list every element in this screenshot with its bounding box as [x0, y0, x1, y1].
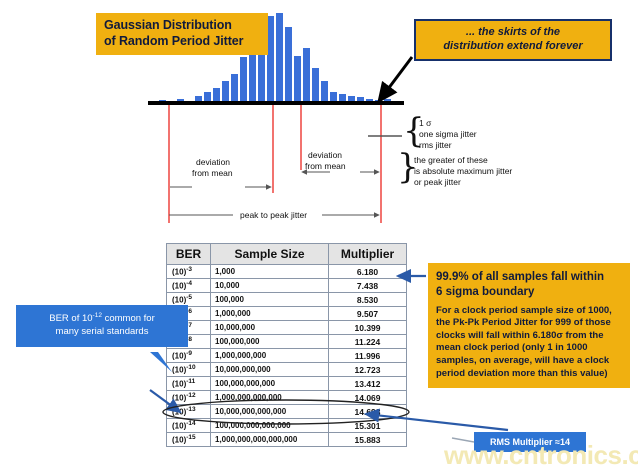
- histogram-bar: [303, 48, 310, 103]
- ber-callout-line-1-post: common for: [102, 313, 155, 324]
- sigma-line-left-outer: [168, 105, 170, 223]
- cell-multiplier: 14.069: [329, 391, 407, 405]
- deviation-right-line-2: from mean: [305, 161, 346, 172]
- cell-multiplier: 7.438: [329, 279, 407, 293]
- chart-title-box: Gaussian Distribution of Random Period J…: [96, 13, 268, 55]
- ber-callout-line-1: BER of 10-12 common for: [22, 312, 182, 326]
- cell-multiplier: 11.996: [329, 349, 407, 363]
- cell-sample-size: 10,000,000,000,000: [211, 405, 329, 419]
- column-header-sample-size: Sample Size: [211, 244, 329, 265]
- peak-to-peak-label: peak to peak jitter: [240, 210, 307, 221]
- cell-sample-size: 1,000: [211, 265, 329, 279]
- jitter-annotation-layer: { 1 σ one sigma jitter rms jitter } the …: [0, 100, 638, 235]
- sigma-line-left-inner: [272, 105, 274, 193]
- histogram-bar: [231, 74, 238, 103]
- cell-multiplier: 9.507: [329, 307, 407, 321]
- ber-common-callout: BER of 10-12 common for many serial stan…: [16, 305, 188, 347]
- table-header-row: BER Sample Size Multiplier: [167, 244, 407, 265]
- cell-ber: (10)-11: [167, 377, 211, 391]
- deviation-right-line-1: deviation: [308, 150, 342, 161]
- ber-callout-line-1-pre: BER of 10: [49, 313, 92, 324]
- info-box-body-line-3: clocks will fall within 6.180σ from the: [436, 330, 623, 343]
- cell-ber: (10)-10: [167, 363, 211, 377]
- histogram-bar: [249, 55, 256, 103]
- sigma-label-1-line-1: 1 σ: [419, 118, 431, 129]
- skirt-callout-box: ... the skirts of the distribution exten…: [414, 19, 612, 61]
- cell-ber: (10)-12: [167, 391, 211, 405]
- sigma-line-right-outer: [380, 105, 382, 223]
- cell-sample-size: 100,000,000,000,000: [211, 419, 329, 433]
- info-box-body-line-1: For a clock period sample size of 1000,: [436, 305, 623, 318]
- sigma-label-2-line-3: or peak jitter: [414, 177, 461, 188]
- table-row[interactable]: (10)-8100,000,00011.224: [167, 335, 407, 349]
- table-row[interactable]: (10)-1010,000,000,00012.723: [167, 363, 407, 377]
- cell-sample-size: 100,000,000: [211, 335, 329, 349]
- site-watermark: www.cntronics.com: [444, 440, 638, 471]
- six-sigma-info-box: 99.9% of all samples fall within 6 sigma…: [428, 263, 630, 388]
- table-row[interactable]: (10)-11100,000,000,00013.412: [167, 377, 407, 391]
- info-box-body-line-2: the Pk-Pk Period Jitter for 999 of those: [436, 317, 623, 330]
- skirt-callout-line-2: distribution extend forever: [420, 39, 606, 53]
- histogram-bar: [276, 13, 283, 103]
- table-row[interactable]: (10)-151,000,000,000,000,00015.883: [167, 433, 407, 447]
- cell-multiplier: 10.399: [329, 321, 407, 335]
- table-row[interactable]: (10)-410,0007.438: [167, 279, 407, 293]
- table-row[interactable]: (10)-61,000,0009.507: [167, 307, 407, 321]
- info-box-body: For a clock period sample size of 1000, …: [436, 305, 623, 380]
- cell-multiplier: 11.224: [329, 335, 407, 349]
- cell-sample-size: 1,000,000,000: [211, 349, 329, 363]
- column-header-multiplier: Multiplier: [329, 244, 407, 265]
- ber-callout-line-2: many serial standards: [22, 326, 182, 339]
- cell-sample-size: 10,000: [211, 279, 329, 293]
- cell-ber: (10)-13: [167, 405, 211, 419]
- chart-title-line-2: of Random Period Jitter: [104, 34, 262, 50]
- cell-ber: (10)-15: [167, 433, 211, 447]
- histogram-bar: [312, 68, 319, 103]
- deviation-left-line-1: deviation: [196, 157, 230, 168]
- info-box-body-line-5: samples, on average, will have a clock: [436, 355, 623, 368]
- skirt-callout-line-1: ... the skirts of the: [420, 25, 606, 39]
- deviation-left-line-2: from mean: [192, 168, 233, 179]
- cell-sample-size: 100,000,000,000: [211, 377, 329, 391]
- info-box-heading: 99.9% of all samples fall within 6 sigma…: [436, 270, 623, 300]
- sigma-line-right-inner: [300, 105, 302, 170]
- sigma-label-1-line-2: one sigma jitter: [419, 129, 477, 140]
- ber-callout-exponent: -12: [93, 312, 102, 319]
- cell-multiplier: 13.412: [329, 377, 407, 391]
- histogram-bar: [294, 56, 301, 104]
- cell-multiplier: 15.883: [329, 433, 407, 447]
- table-row[interactable]: (10)-5100,0008.530: [167, 293, 407, 307]
- histogram-bar: [285, 27, 292, 103]
- cell-multiplier: 15.301: [329, 419, 407, 433]
- cell-multiplier: 6.180: [329, 265, 407, 279]
- info-box-body-line-4: mean clock period (only 1 in 1000: [436, 342, 623, 355]
- info-box-heading-line-1: 99.9% of all samples fall within: [436, 270, 623, 285]
- histogram-bar: [240, 57, 247, 103]
- cell-ber: (10)-9: [167, 349, 211, 363]
- info-box-body-line-6: period deviation more than this value): [436, 368, 623, 381]
- sigma-label-2-line-2: is absolute maximum jitter: [414, 166, 512, 177]
- table-row[interactable]: (10)-121,000,000,000,00014.069: [167, 391, 407, 405]
- table-row[interactable]: (10)-31,0006.180: [167, 265, 407, 279]
- cell-sample-size: 10,000,000: [211, 321, 329, 335]
- column-header-ber: BER: [167, 244, 211, 265]
- sigma-label-1-line-3: rms jitter: [419, 140, 452, 151]
- table-row[interactable]: (10)-91,000,000,00011.996: [167, 349, 407, 363]
- cell-multiplier: 14.698: [329, 405, 407, 419]
- info-box-heading-line-2: 6 sigma boundary: [436, 285, 623, 300]
- table-row[interactable]: (10)-14100,000,000,000,00015.301: [167, 419, 407, 433]
- cell-multiplier: 8.530: [329, 293, 407, 307]
- table-row[interactable]: (10)-710,000,00010.399: [167, 321, 407, 335]
- table-row[interactable]: (10)-1310,000,000,000,00014.698: [167, 405, 407, 419]
- cell-sample-size: 1,000,000: [211, 307, 329, 321]
- cell-sample-size: 100,000: [211, 293, 329, 307]
- chart-title-line-1: Gaussian Distribution: [104, 18, 262, 34]
- ber-table: BER Sample Size Multiplier (10)-31,0006.…: [166, 243, 407, 447]
- cell-multiplier: 12.723: [329, 363, 407, 377]
- cell-sample-size: 1,000,000,000,000,000: [211, 433, 329, 447]
- cell-sample-size: 10,000,000,000: [211, 363, 329, 377]
- sigma-label-2-line-1: the greater of these: [414, 155, 488, 166]
- ber-table-container: BER Sample Size Multiplier (10)-31,0006.…: [166, 243, 406, 447]
- cell-ber: (10)-3: [167, 265, 211, 279]
- cell-ber: (10)-4: [167, 279, 211, 293]
- cell-ber: (10)-14: [167, 419, 211, 433]
- histogram-bar: [267, 16, 274, 103]
- cell-sample-size: 1,000,000,000,000: [211, 391, 329, 405]
